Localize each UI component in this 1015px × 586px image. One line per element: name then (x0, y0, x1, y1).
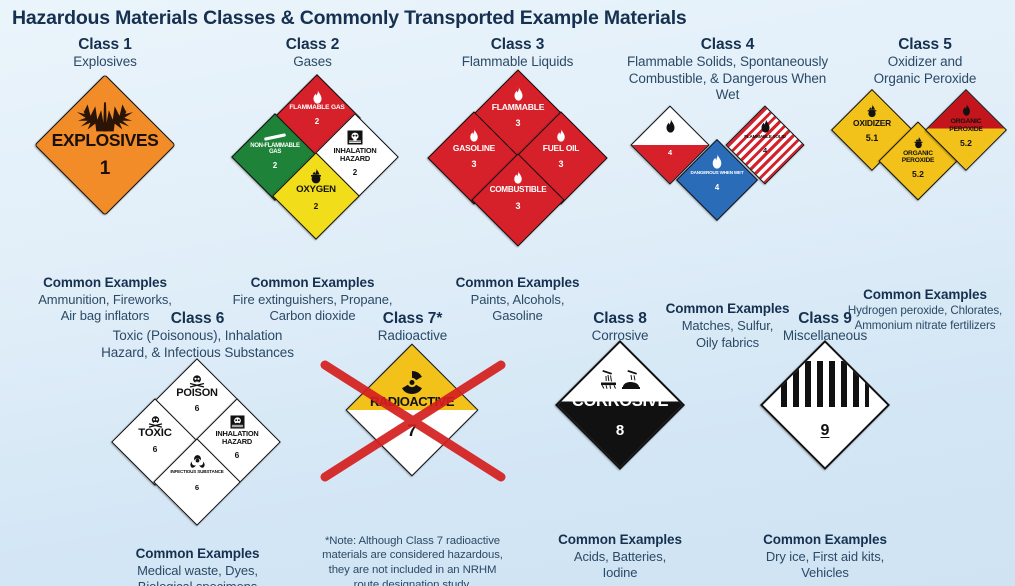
placard-label: FLAMMABLE (492, 103, 545, 111)
placard-number: 2 (315, 117, 319, 126)
placard-corrosive[interactable]: CORROSIVE 8 (555, 339, 685, 469)
class-description: Toxic (Poisonous), Inhalation Hazard, & … (90, 328, 305, 360)
flame-icon (311, 90, 324, 104)
placard-group-class-2: FLAMMABLE GAS 2 NON-FLAMMABLE GAS 2 (210, 71, 415, 231)
placard-group-class-8: CORROSIVE 8 (520, 345, 720, 500)
common-examples-heading-6: Common Examples (90, 546, 305, 561)
class-7-note: *Note: Although Class 7 radioactive mate… (305, 534, 520, 586)
placard-number: 6 (195, 403, 200, 413)
class-card-8: Class 8 Corrosive (520, 310, 720, 586)
class-description: Explosives (0, 54, 210, 70)
flame-circle-icon (913, 136, 924, 149)
skull-icon (347, 130, 363, 145)
flame-icon (512, 87, 525, 101)
bottom-row: Class 6 Toxic (Poisonous), Inhalation Ha… (0, 310, 1015, 586)
class-card-5: Class 5 Oxidizer and Organic Peroxide OX… (835, 36, 1015, 351)
placard-label: DANGEROUS WHEN WET (690, 171, 743, 175)
placard-label: INFECTIOUS SUBSTANCE (170, 470, 223, 474)
class-title: Class 9 (720, 310, 930, 327)
placard-label: SPONTANEOUSLY COMBUSTIBLE (643, 134, 697, 143)
placard-number: 4 (715, 183, 719, 192)
placard-number: 5.2 (960, 137, 972, 147)
placard-number: 5.1 (866, 133, 879, 143)
common-examples-heading-3: Common Examples (415, 275, 620, 290)
placard-label: FLAMMABLE GAS (289, 105, 344, 111)
placard-label: FLAMMABLE SOLID (744, 135, 785, 139)
class-card-6: Class 6 Toxic (Poisonous), Inhalation Ha… (90, 310, 305, 586)
skull-icon (230, 415, 245, 429)
placard-label: TOXIC (138, 428, 172, 439)
explosion-icon (76, 94, 134, 134)
class-card-2: Class 2 Gases FLAMMABLE GAS 2 (210, 36, 415, 351)
page-title: Hazardous Materials Classes & Commonly T… (0, 0, 1015, 29)
flame-icon (555, 129, 567, 142)
placard-number: 6 (153, 444, 158, 454)
flame-icon (664, 119, 677, 133)
placard-number: 7 (407, 421, 416, 441)
class-description: Flammable Solids, Spontaneously Combusti… (620, 54, 835, 103)
flame-icon (468, 129, 480, 142)
placard-label: RADIOACTIVE (370, 396, 454, 408)
class-card-9: Class 9 Miscellaneous 9 Common Examples … (720, 310, 930, 586)
placard-number: 6 (195, 483, 199, 492)
placard-label: ORGANIC PEROXIDE (891, 150, 945, 165)
top-row: Class 1 Explosives EXPLOSIVES 1 (0, 36, 1015, 351)
placard-label: INHALATION HAZARD (326, 147, 384, 163)
class-title: Class 7* (305, 310, 520, 327)
class-title: Class 4 (620, 36, 835, 53)
placard-number: 4 (763, 146, 767, 155)
class-card-3: Class 3 Flammable Liquids FLAMMABLE 3 (415, 36, 620, 351)
common-examples-text-9: Dry ice, First aid kits, Vehicles (720, 549, 930, 582)
placard-number: 2 (273, 161, 277, 170)
common-examples-text-6: Medical waste, Dyes, Biological specimen… (90, 563, 305, 586)
placard-number: 2 (314, 201, 319, 211)
class-title: Class 5 (835, 36, 1015, 53)
placard-label: POISON (176, 388, 218, 398)
flame-circle-icon (866, 104, 878, 118)
placard-explosives[interactable]: EXPLOSIVES 1 (34, 74, 175, 215)
placard-label: CORROSIVE (572, 394, 668, 410)
class-card-4: Class 4 Flammable Solids, Spontaneously … (620, 36, 835, 351)
placard-number: 1 (100, 157, 111, 179)
placard-label: COMBUSTIBLE (490, 186, 547, 194)
common-examples-heading-2: Common Examples (210, 275, 415, 290)
placard-number: 9 (781, 422, 869, 440)
flame-circle-icon (309, 168, 323, 184)
class-title: Class 2 (210, 36, 415, 53)
common-examples-heading-5: Common Examples (835, 287, 1015, 302)
common-examples-heading-9: Common Examples (720, 532, 930, 547)
placard-number: 2 (353, 168, 357, 177)
stripes-icon (781, 361, 869, 407)
placard-group-class-3: FLAMMABLE 3 GASOLINE 3 (415, 71, 620, 231)
placard-number: 6 (235, 450, 240, 460)
placard-number: 3 (558, 159, 563, 169)
skull-icon (189, 374, 205, 388)
common-examples-text-8: Acids, Batteries, Iodine (520, 549, 720, 582)
corrosion-icon (597, 368, 643, 394)
class-description: Gases (210, 54, 415, 70)
class-card-1: Class 1 Explosives EXPLOSIVES 1 (0, 36, 210, 351)
flame-icon (759, 119, 772, 133)
placard-group-class-9: 9 (720, 345, 930, 500)
placard-group-class-5: OXIDIZER 5.1 ORGANIC PEROXIDE 5.2 (835, 87, 1015, 247)
placard-number: 8 (616, 421, 624, 438)
radioactive-trefoil-icon (399, 370, 425, 395)
class-card-7: Class 7* Radioactive RADIOACTIVE 7 (305, 310, 520, 586)
class-description: Oxidizer and Organic Peroxide (835, 54, 1015, 86)
placard-radioactive[interactable]: RADIOACTIVE 7 (346, 343, 479, 476)
placard-label: FUEL OIL (543, 144, 579, 152)
placard-label: ORGANIC PEROXIDE (938, 118, 994, 134)
placard-number: 4 (668, 148, 672, 157)
placard-group-class-6: POISON 6 TOXIC 6 (90, 361, 305, 516)
placard-miscellaneous[interactable]: 9 (760, 339, 890, 469)
placard-number: 3 (515, 200, 520, 210)
biohazard-icon (189, 454, 206, 470)
flame-icon (710, 154, 724, 169)
class-description: Radioactive (305, 328, 520, 344)
class-title: Class 6 (90, 310, 305, 327)
gas-cylinder-icon (263, 132, 287, 142)
placard-group-class-1: EXPLOSIVES 1 (0, 71, 210, 231)
skull-icon (148, 415, 163, 428)
common-examples-heading-1: Common Examples (0, 275, 210, 290)
placard-number: 5.2 (912, 168, 924, 178)
placard-label: EXPLOSIVES (52, 132, 159, 149)
common-examples-heading-8: Common Examples (520, 532, 720, 547)
placard-label: INHALATION HAZARD (208, 430, 266, 446)
flame-icon (961, 104, 972, 116)
placard-number: 3 (515, 118, 520, 128)
placard-group-class-4: SPONTANEOUSLY COMBUSTIBLE 4 FLAMMABLE SO… (620, 103, 835, 263)
placard-label: NON-FLAMMABLE GAS (245, 144, 305, 155)
placard-label: OXYGEN (296, 185, 336, 194)
placard-group-class-7: RADIOACTIVE 7 (305, 345, 520, 500)
class-title: Class 8 (520, 310, 720, 327)
placard-number: 3 (471, 159, 476, 169)
class-title: Class 1 (0, 36, 210, 53)
flame-icon (512, 171, 524, 184)
placard-label: OXIDIZER (853, 119, 891, 127)
class-title: Class 3 (415, 36, 620, 53)
placard-label: GASOLINE (453, 144, 495, 152)
